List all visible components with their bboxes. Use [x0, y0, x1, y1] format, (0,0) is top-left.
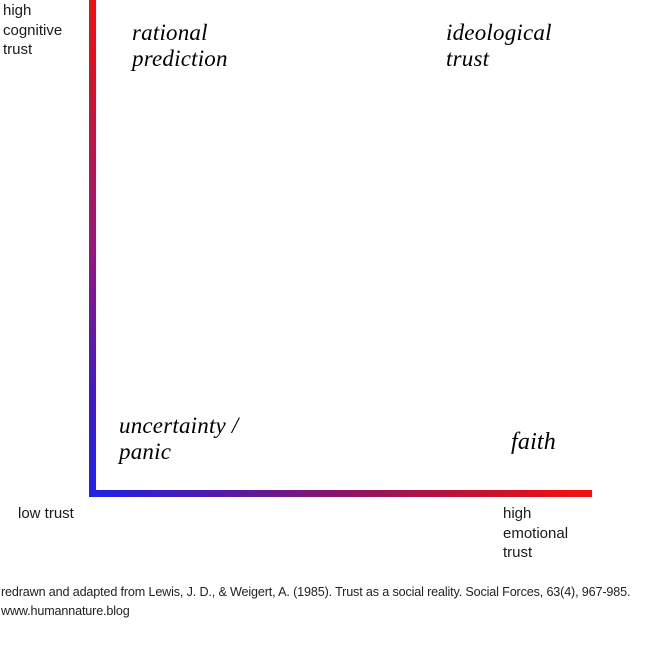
axis-label-high-cognitive-trust: high cognitive trust [3, 1, 62, 60]
quadrant-label-ideological-trust: ideological trust [446, 20, 552, 72]
axis-label-low-trust: low trust [18, 504, 74, 524]
axis-origin-corner [89, 490, 96, 497]
trust-quadrant-figure: high cognitive trust low trust high emot… [0, 0, 648, 658]
quadrant-label-rational-prediction: rational prediction [132, 20, 228, 72]
caption-source-url: www.humannature.blog [1, 602, 647, 621]
figure-caption: redrawn and adapted from Lewis, J. D., &… [1, 583, 647, 621]
cognitive-trust-axis-line [89, 0, 96, 497]
emotional-trust-axis-line [89, 490, 592, 497]
quadrant-label-faith: faith [511, 429, 556, 455]
quadrant-label-uncertainty-panic: uncertainty / panic [119, 413, 239, 465]
axis-label-high-emotional-trust: high emotional trust [503, 504, 568, 563]
caption-citation-line: redrawn and adapted from Lewis, J. D., &… [1, 583, 647, 602]
